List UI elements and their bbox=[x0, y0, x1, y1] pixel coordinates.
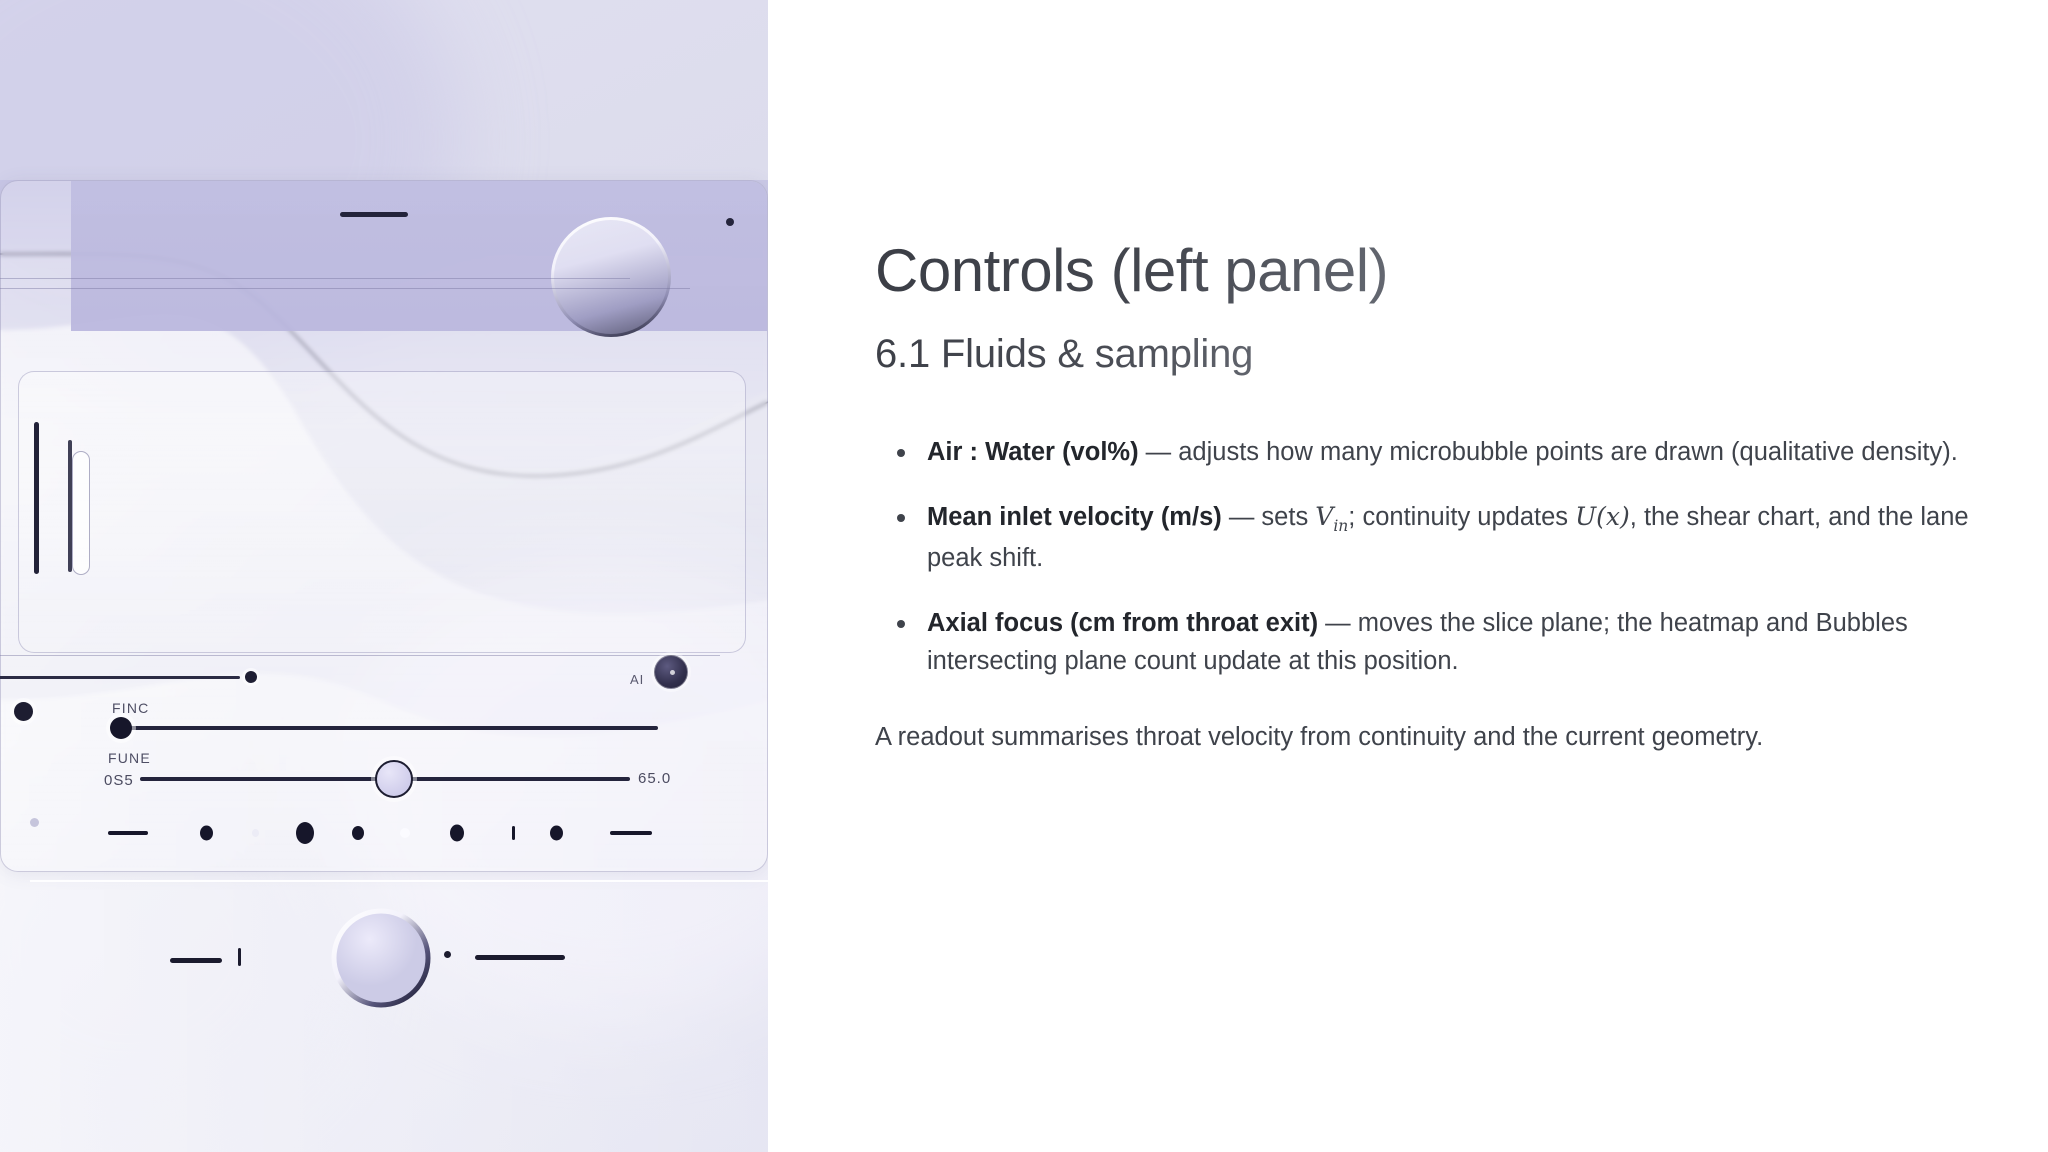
closing-paragraph: A readout summarises throat velocity fro… bbox=[875, 718, 1885, 757]
list-item: Air : Water (vol%) — adjusts how many mi… bbox=[875, 433, 1975, 471]
divider-line bbox=[0, 288, 690, 289]
mini-slider-handle[interactable] bbox=[245, 671, 257, 683]
inner-glass-subpanel bbox=[18, 371, 746, 653]
highlight-line bbox=[30, 880, 768, 882]
slider-value-fune: 65.0 bbox=[638, 770, 671, 787]
bullet-dash: — bbox=[1222, 503, 1262, 531]
dot-row bbox=[100, 820, 660, 846]
illustration-panel: AI FINC FUNE 0S5 65.0 bbox=[0, 0, 768, 1152]
bullet-text: ; continuity updates bbox=[1348, 503, 1575, 531]
bottom-knob-ring[interactable] bbox=[325, 902, 437, 1014]
divider-line bbox=[0, 655, 720, 656]
mini-slider-track[interactable] bbox=[0, 676, 240, 679]
card-status-dot bbox=[726, 218, 734, 226]
toggle-label: AI bbox=[630, 672, 644, 687]
bullet-term: Air : Water (vol%) bbox=[927, 438, 1139, 466]
list-item: Mean inlet velocity (m/s) — sets Vin; co… bbox=[875, 498, 1975, 577]
bottom-tick bbox=[238, 948, 241, 966]
vertical-bar bbox=[34, 422, 39, 574]
content-panel: Controls (left panel) 6.1 Fluids & sampl… bbox=[768, 0, 2048, 1152]
vertical-bar-outline bbox=[72, 451, 90, 575]
bullet-dash: — bbox=[1318, 609, 1358, 637]
slider-label-fune: FUNE bbox=[108, 750, 151, 766]
math-symbol-vin: Vin bbox=[1315, 502, 1348, 531]
slider-track-finc[interactable] bbox=[118, 726, 658, 730]
ai-toggle-button[interactable] bbox=[654, 655, 688, 689]
bottom-dot-right bbox=[444, 951, 451, 958]
bullet-term: Axial focus (cm from throat exit) bbox=[927, 609, 1318, 637]
bullet-term: Mean inlet velocity (m/s) bbox=[927, 503, 1222, 531]
divider-line bbox=[0, 278, 630, 279]
bullet-text: sets bbox=[1261, 503, 1315, 531]
bullet-list: Air : Water (vol%) — adjusts how many mi… bbox=[875, 433, 1975, 680]
left-edge-dot bbox=[14, 702, 33, 721]
card-title-placeholder bbox=[340, 212, 408, 217]
slider-label-finc: FINC bbox=[112, 700, 149, 716]
slider-handle-finc[interactable] bbox=[110, 717, 132, 739]
large-knob-ring[interactable] bbox=[551, 217, 671, 337]
list-item: Axial focus (cm from throat exit) — move… bbox=[875, 604, 1975, 681]
bottom-dash-right bbox=[475, 955, 565, 960]
bullet-dash: — bbox=[1139, 438, 1179, 466]
math-symbol-ux: U(x) bbox=[1575, 502, 1630, 531]
page-title: Controls (left panel) bbox=[875, 238, 1975, 310]
slide-root: AI FINC FUNE 0S5 65.0 bbox=[0, 0, 2048, 1152]
slider-handle-fune[interactable] bbox=[375, 760, 413, 798]
bottom-dash-left bbox=[170, 958, 222, 963]
section-subtitle: 6.1 Fluids & sampling bbox=[875, 332, 1975, 383]
ghost-dot bbox=[30, 818, 39, 827]
bullet-text: adjusts how many microbubble points are … bbox=[1178, 438, 1958, 466]
slider-min-label: 0S5 bbox=[104, 772, 134, 789]
